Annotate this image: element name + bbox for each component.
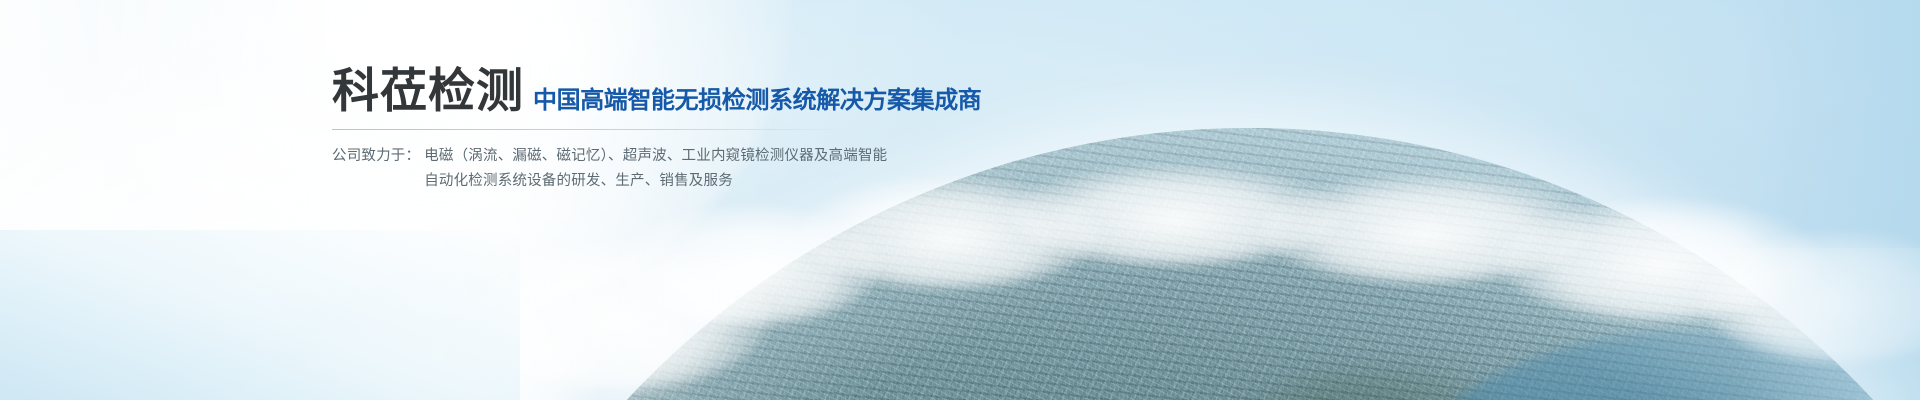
company-description: 公司致力于： 电磁（涡流、漏磁、磁记忆）、超声波、工业内窥镜检测仪器及高端智能 … bbox=[332, 144, 892, 194]
description-line-2: 自动化检测系统设备的研发、生产、销售及服务 bbox=[424, 169, 887, 194]
brand-tagline: 中国高端智能无损检测系统解决方案集成商 bbox=[533, 88, 981, 112]
banner-text-block: 科莅检测 中国高端智能无损检测系统解决方案集成商 公司致力于： 电磁（涡流、漏磁… bbox=[332, 68, 892, 194]
hero-banner: 科莅检测 中国高端智能无损检测系统解决方案集成商 公司致力于： 电磁（涡流、漏磁… bbox=[0, 0, 1920, 400]
headline-divider bbox=[332, 129, 848, 130]
banner-headline-row: 科莅检测 中国高端智能无损检测系统解决方案集成商 bbox=[332, 68, 892, 115]
description-line-1: 电磁（涡流、漏磁、磁记忆）、超声波、工业内窥镜检测仪器及高端智能 bbox=[424, 144, 887, 169]
brand-title: 科莅检测 bbox=[332, 68, 524, 115]
description-lines: 电磁（涡流、漏磁、磁记忆）、超声波、工业内窥镜检测仪器及高端智能 自动化检测系统… bbox=[424, 144, 887, 194]
description-label: 公司致力于： bbox=[332, 144, 420, 169]
